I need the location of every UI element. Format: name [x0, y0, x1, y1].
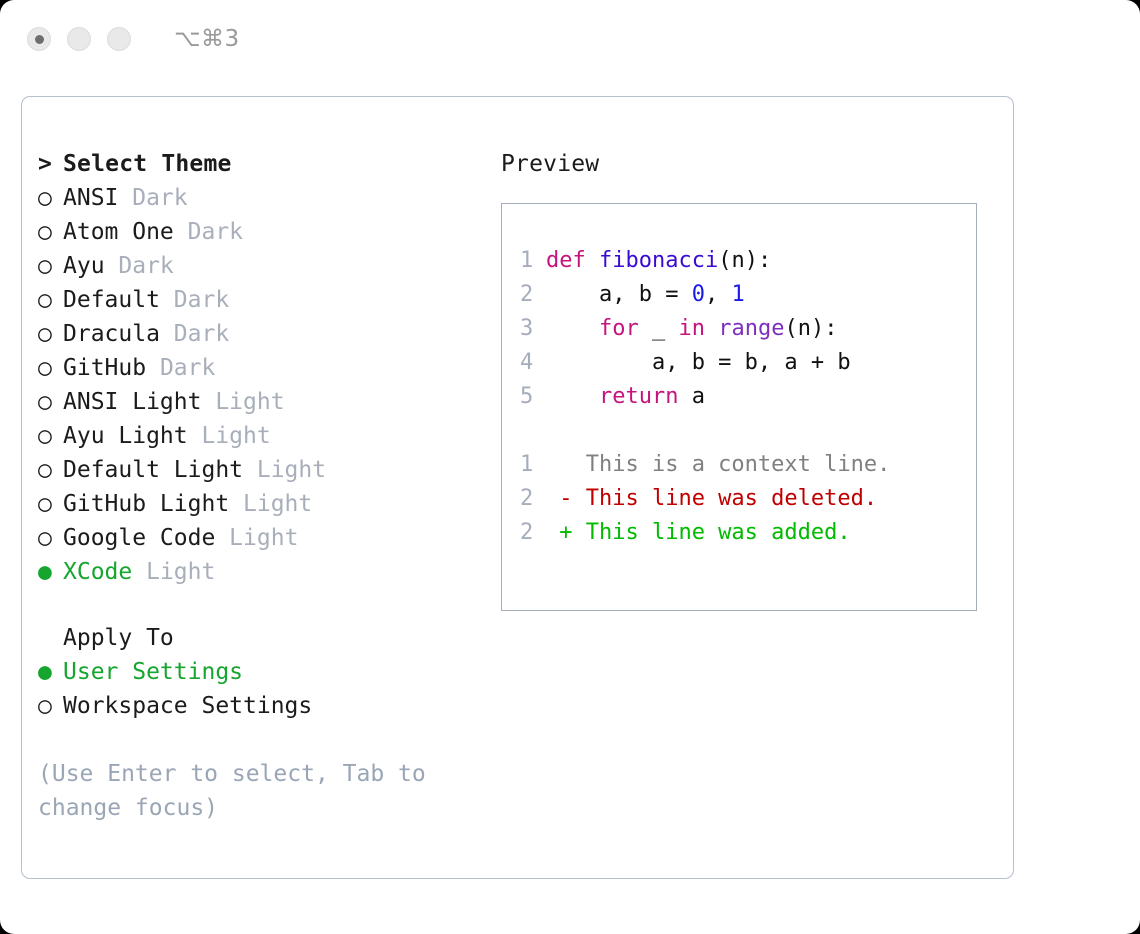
theme-name: ANSI [63, 185, 118, 211]
apply-to-option-label: Workspace Settings [63, 693, 312, 719]
code-line: 2 a, b = 0, 1 [520, 278, 976, 312]
theme-name: GitHub Light [63, 491, 229, 517]
app-window: ⌥⌘3 >Select Theme ○ANSI Dark○Atom One Da… [0, 0, 1140, 934]
theme-name: GitHub [63, 355, 146, 381]
code-token: _ [639, 316, 679, 341]
select-theme-heading-label: Select Theme [63, 151, 232, 177]
theme-name: Ayu Light [63, 423, 188, 449]
theme-variant-badge: Light [132, 559, 215, 585]
keyboard-hint: (Use Enter to select, Tab to change focu… [38, 757, 458, 825]
theme-variant-badge: Dark [160, 287, 229, 313]
theme-variant-badge: Light [215, 525, 298, 551]
code-token: return [599, 384, 678, 409]
line-number: 1 [520, 244, 546, 278]
code-token: a, b = b, a + b [546, 350, 851, 375]
theme-list-item[interactable]: ○ANSI Dark [38, 181, 488, 215]
code-token: a, b = [546, 282, 692, 307]
code-sample: 1def fibonacci(n):2 a, b = 0, 13 for _ i… [520, 244, 976, 414]
line-number: 1 [520, 448, 546, 482]
theme-variant-badge: Light [243, 457, 326, 483]
apply-to-list: ●User Settings○Workspace Settings [38, 655, 488, 723]
code-token: 0 [692, 282, 705, 307]
theme-list-item[interactable]: ○Atom One Dark [38, 215, 488, 249]
diff-sample: 1 This is a context line.2 - This line w… [520, 448, 976, 550]
theme-list-item[interactable]: ○Ayu Light Light [38, 419, 488, 453]
theme-variant-badge: Light [201, 389, 284, 415]
window-button-2[interactable] [67, 27, 91, 51]
title-bar: ⌥⌘3 [0, 0, 1140, 78]
preview-pane: Preview 1def fibonacci(n):2 a, b = 0, 13… [501, 147, 991, 611]
theme-picker: >Select Theme ○ANSI Dark○Atom One Dark○A… [38, 147, 488, 825]
code-token: def [546, 248, 586, 273]
radio-unselected-icon: ○ [38, 487, 63, 521]
radio-unselected-icon: ○ [38, 283, 63, 317]
diff-line-text: - This line was deleted. [546, 486, 877, 511]
code-token: for [599, 316, 639, 341]
apply-to-option[interactable]: ○Workspace Settings [38, 689, 488, 723]
theme-list-item[interactable]: ○ANSI Light Light [38, 385, 488, 419]
diff-line-text: This is a context line. [546, 452, 890, 477]
radio-unselected-icon: ○ [38, 453, 63, 487]
theme-variant-badge: Light [229, 491, 312, 517]
theme-variant-badge: Light [188, 423, 271, 449]
theme-variant-badge: Dark [160, 321, 229, 347]
theme-list-item[interactable]: ○GitHub Light Light [38, 487, 488, 521]
theme-name: Dracula [63, 321, 160, 347]
diff-line: 1 This is a context line. [520, 448, 976, 482]
radio-selected-icon: ● [38, 655, 63, 689]
theme-list-item[interactable]: ●XCode Light [38, 555, 488, 589]
code-token [546, 384, 599, 409]
theme-list-item[interactable]: ○GitHub Dark [38, 351, 488, 385]
radio-unselected-icon: ○ [38, 249, 63, 283]
code-line: 1def fibonacci(n): [520, 244, 976, 278]
theme-name: ANSI Light [63, 389, 201, 415]
theme-name: Default [63, 287, 160, 313]
theme-list-item[interactable]: ○Default Light Light [38, 453, 488, 487]
theme-list-item[interactable]: ○Ayu Dark [38, 249, 488, 283]
theme-list-item[interactable]: ○Default Dark [38, 283, 488, 317]
code-token [705, 316, 718, 341]
apply-to-section: Apply To ●User Settings○Workspace Settin… [38, 621, 488, 723]
diff-line: 2 - This line was deleted. [520, 482, 976, 516]
line-number: 2 [520, 516, 546, 550]
line-number: 5 [520, 380, 546, 414]
theme-list-item[interactable]: ○Google Code Light [38, 521, 488, 555]
diff-line: 2 + This line was added. [520, 516, 976, 550]
radio-unselected-icon: ○ [38, 317, 63, 351]
radio-unselected-icon: ○ [38, 385, 63, 419]
diff-line-text: + This line was added. [546, 520, 851, 545]
select-theme-heading: >Select Theme [38, 147, 488, 181]
code-token: , [705, 282, 732, 307]
code-line: 4 a, b = b, a + b [520, 346, 976, 380]
code-token: a [678, 384, 705, 409]
code-token: in [678, 316, 705, 341]
theme-name: Atom One [63, 219, 174, 245]
radio-unselected-icon: ○ [38, 351, 63, 385]
theme-variant-badge: Dark [118, 185, 187, 211]
code-token: range [718, 316, 784, 341]
code-token: 1 [731, 282, 744, 307]
line-number: 4 [520, 346, 546, 380]
preview-title: Preview [501, 147, 991, 181]
theme-variant-badge: Dark [105, 253, 174, 279]
radio-unselected-icon: ○ [38, 181, 63, 215]
code-line: 5 return a [520, 380, 976, 414]
code-token: (n): [718, 248, 771, 273]
theme-list-item[interactable]: ○Dracula Dark [38, 317, 488, 351]
theme-name: Default Light [63, 457, 243, 483]
theme-variant-badge: Dark [146, 355, 215, 381]
line-number: 2 [520, 278, 546, 312]
radio-unselected-icon: ○ [38, 419, 63, 453]
apply-to-option[interactable]: ●User Settings [38, 655, 488, 689]
radio-selected-icon: ● [38, 555, 63, 589]
code-token [586, 248, 599, 273]
window-button-3[interactable] [107, 27, 131, 51]
window-button-1[interactable] [27, 27, 51, 51]
code-line: 3 for _ in range(n): [520, 312, 976, 346]
apply-to-heading: Apply To [38, 621, 488, 655]
theme-name: Google Code [63, 525, 215, 551]
theme-list: ○ANSI Dark○Atom One Dark○Ayu Dark○Defaul… [38, 181, 488, 589]
radio-unselected-icon: ○ [38, 521, 63, 555]
code-token [546, 316, 599, 341]
prompt-caret-icon: > [38, 147, 63, 181]
code-token: (n): [784, 316, 837, 341]
code-token: fibonacci [599, 248, 718, 273]
theme-name: Ayu [63, 253, 105, 279]
theme-name: XCode [63, 559, 132, 585]
preview-box: 1def fibonacci(n):2 a, b = 0, 13 for _ i… [501, 203, 977, 611]
radio-unselected-icon: ○ [38, 215, 63, 249]
window-button-1-core [35, 35, 44, 44]
line-number: 2 [520, 482, 546, 516]
keyboard-shortcut-label: ⌥⌘3 [174, 26, 240, 52]
theme-variant-badge: Dark [174, 219, 243, 245]
line-number: 3 [520, 312, 546, 346]
content-panel: >Select Theme ○ANSI Dark○Atom One Dark○A… [21, 96, 1014, 879]
radio-unselected-icon: ○ [38, 689, 63, 723]
apply-to-option-label: User Settings [63, 659, 243, 685]
